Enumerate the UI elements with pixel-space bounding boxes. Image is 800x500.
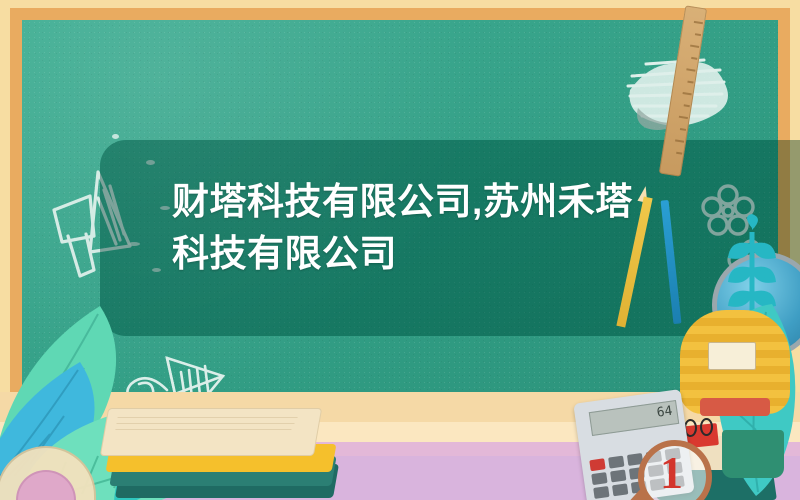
notebook-spiral [700, 418, 713, 436]
illustration-canvas: 财塔科技有限公司,苏州禾塔科技有限公司 [0, 0, 800, 500]
backpack-strap [700, 398, 770, 416]
magnified-number: 1 [660, 446, 683, 499]
caption-text: 财塔科技有限公司,苏州禾塔科技有限公司 [172, 176, 652, 280]
chalk-speck [112, 134, 119, 139]
book-cream-top [100, 408, 322, 456]
backpack-name-tag [708, 342, 756, 370]
pen-holder [722, 430, 784, 478]
calculator-display-value: 64 [656, 404, 674, 421]
